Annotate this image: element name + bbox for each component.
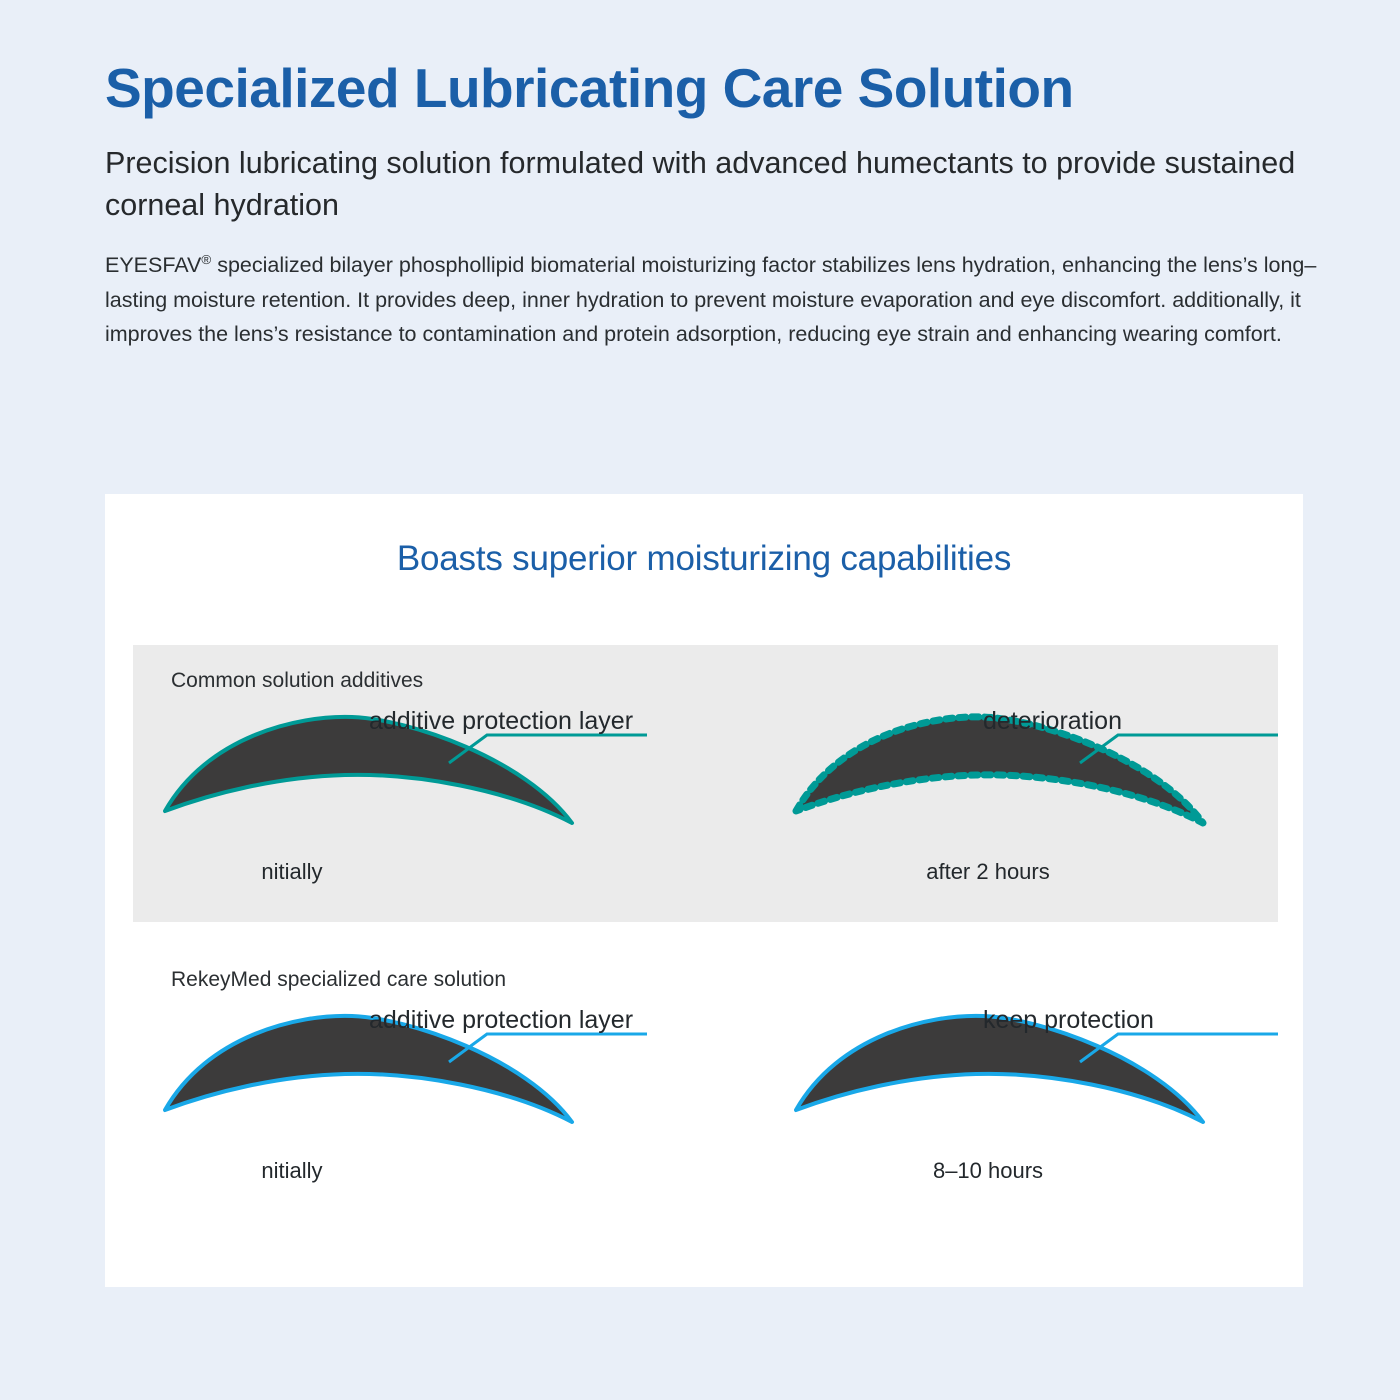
panel-common-initial: additive protection layer nitially [147,701,647,911]
time-label-common-after-2-hours: after 2 hours [778,859,1198,885]
brand-name: EYESFAV [105,253,201,277]
callout-label-additive-protection-layer-rekey: additive protection layer [369,1006,633,1035]
time-label-rekey-8-10-hours: 8–10 hours [778,1158,1198,1184]
panels-rekeymed: additive protection layer nitially keep … [133,1000,1278,1210]
time-label-common-initial: nitially [147,859,437,885]
panel-common-after-2-hours: deterioration after 2 hours [778,701,1278,911]
page-root: Specialized Lubricating Care Solution Pr… [0,0,1400,1400]
header-block: Specialized Lubricating Care Solution Pr… [105,58,1330,352]
row-common-solution-additives: Common solution additives additive prote… [133,645,1278,922]
card-heading: Boasts superior moisturizing capabilitie… [105,494,1303,579]
row-label-rekeymed: RekeyMed specialized care solution [171,968,506,992]
description-text: specialized bilayer phosphollipid biomat… [105,253,1316,347]
row-label-common: Common solution additives [171,669,423,693]
page-title: Specialized Lubricating Care Solution [105,58,1330,120]
registered-trademark-icon: ® [201,252,211,267]
row-rekeymed-specialized-care-solution: RekeyMed specialized care solution addit… [133,944,1278,1244]
page-subtitle: Precision lubricating solution formulate… [105,142,1330,226]
product-description: EYESFAV® specialized bilayer phosphollip… [105,248,1320,352]
panels-common: additive protection layer nitially deter… [133,701,1278,911]
comparison-card: Boasts superior moisturizing capabilitie… [105,494,1303,1287]
callout-label-keep-protection: keep protection [983,1006,1154,1035]
callout-label-deterioration: deterioration [983,707,1122,736]
panel-rekey-8-10-hours: keep protection 8–10 hours [778,1000,1278,1210]
callout-label-additive-protection-layer: additive protection layer [369,707,633,736]
panel-rekey-initial: additive protection layer nitially [147,1000,647,1210]
time-label-rekey-initial: nitially [147,1158,437,1184]
